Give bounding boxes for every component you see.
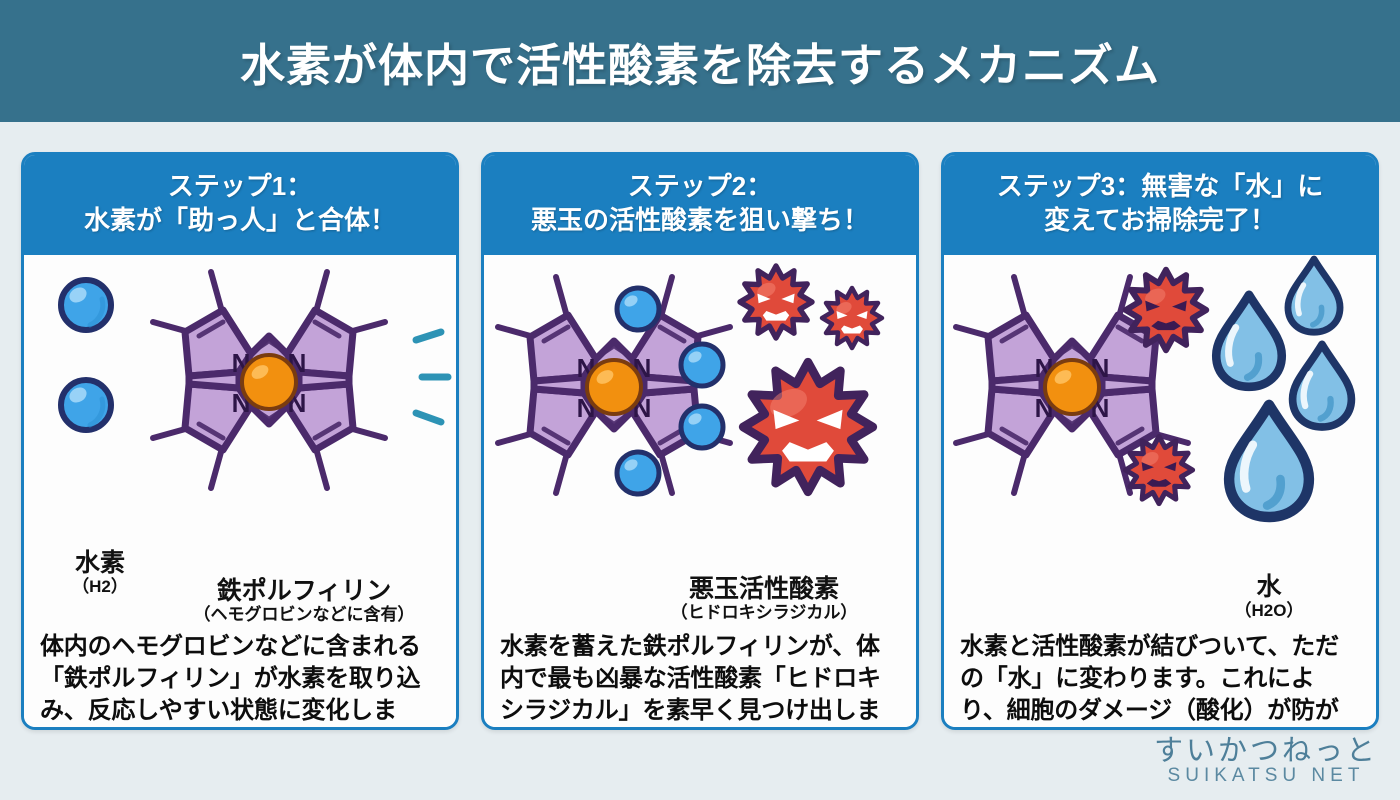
step-1-svg: N N N N — [24, 255, 456, 555]
logo-english-text: SUIKATSU NET — [1154, 766, 1378, 786]
page-title: 水素が体内で活性酸素を除去するメカニズム — [240, 29, 1160, 94]
reactive-oxygen-species-icon-3 — [743, 362, 873, 492]
step-3-captions: 水 （H2O） — [944, 555, 1376, 625]
hydrogen-molecule-icon-3 — [681, 406, 723, 448]
step-card-3-body: N N N N — [944, 255, 1376, 730]
caption-porphyrin: 鉄ポルフィリン （ヘモグロビンなどに含有） — [154, 577, 454, 624]
reactive-oxygen-species-icon-2 — [822, 288, 882, 348]
hydrogen-molecule-icon-2 — [681, 344, 723, 386]
step-card-1-header-line-2: 水素が「助っ人」と合体！ — [34, 204, 446, 238]
iron-center-icon — [242, 355, 296, 409]
hydrogen-molecule-icon-2 — [61, 380, 111, 430]
step-2-description: 水素を蓄えた鉄ポルフィリンが、体内で最も凶暴な活性酸素「ヒドロキシラジカル」を素… — [484, 625, 916, 730]
water-droplet-icon-4 — [1229, 405, 1309, 517]
iron-porphyrin-icon: N N N N — [153, 272, 385, 488]
infographic-page: 水素が体内で活性酸素を除去するメカニズム ステップ1： 水素が「助っ人」と合体！ — [0, 0, 1400, 800]
step-2-illustration: N N N N — [484, 255, 916, 555]
step-card-2[interactable]: ステップ2： 悪玉の活性酸素を狙い撃ち！ — [481, 152, 919, 730]
site-logo[interactable]: すいかつねっと SUIKATSU NET — [1154, 736, 1378, 786]
logo-japanese-text: すいかつねっと — [1154, 736, 1378, 766]
step-1-captions: 水素 （H2） 鉄ポルフィリン （ヘモグロビンなどに含有） — [24, 555, 456, 625]
reactive-oxygen-species-icon-1 — [740, 266, 812, 338]
step-card-1-body: N N N N — [24, 255, 456, 730]
caption-reactive-oxygen: 悪玉活性酸素 （ヒドロキシラジカル） — [624, 575, 904, 622]
step-card-3-header: ステップ3：無害な「水」に 変えてお掃除完了！ — [944, 155, 1376, 255]
caption-water: 水 （H2O） — [1204, 573, 1334, 620]
hydrogen-molecule-icon-4 — [617, 452, 659, 494]
step-card-3[interactable]: ステップ3：無害な「水」に 変えてお掃除完了！ — [941, 152, 1379, 730]
step-card-1-header-line-1: ステップ1： — [34, 170, 446, 204]
step-card-2-body: N N N N — [484, 255, 916, 730]
water-droplet-icon-3 — [1293, 344, 1352, 427]
header-bar: 水素が体内で活性酸素を除去するメカニズム — [0, 0, 1400, 122]
iron-porphyrin-with-hydrogen-icon: N N N N — [498, 277, 730, 494]
step-card-2-header: ステップ2： 悪玉の活性酸素を狙い撃ち！ — [484, 155, 916, 255]
step-1-illustration: N N N N — [24, 255, 456, 555]
step-1-description: 体内のヘモグロビンなどに含まれる「鉄ポルフィリン」が水素を取り込み、反応しやすい… — [24, 625, 456, 730]
step-card-2-header-line-1: ステップ2： — [494, 170, 906, 204]
step-card-3-header-line-1: ステップ3：無害な「水」に — [954, 170, 1366, 204]
step-card-3-header-line-2: 変えてお掃除完了！ — [954, 204, 1366, 238]
iron-center-icon — [587, 360, 641, 414]
step-cards-row: ステップ1： 水素が「助っ人」と合体！ — [0, 152, 1400, 732]
step-3-description: 水素と活性酸素が結びついて、ただの「水」に変わります。これにより、細胞のダメージ… — [944, 625, 1376, 730]
step-3-illustration: N N N N — [944, 255, 1376, 555]
step-2-svg: N N N N — [484, 255, 916, 555]
step-card-2-header-line-2: 悪玉の活性酸素を狙い撃ち！ — [494, 204, 906, 238]
sparkle-icon — [416, 332, 448, 422]
step-3-svg: N N N N — [944, 255, 1376, 555]
step-2-captions: 悪玉活性酸素 （ヒドロキシラジカル） — [484, 555, 916, 625]
step-card-1-header: ステップ1： 水素が「助っ人」と合体！ — [24, 155, 456, 255]
water-droplet-icon-1 — [1288, 259, 1340, 332]
step-card-1[interactable]: ステップ1： 水素が「助っ人」と合体！ — [21, 152, 459, 730]
hydrogen-molecule-icon — [61, 280, 111, 330]
hydrogen-molecule-icon — [617, 288, 659, 330]
caption-hydrogen: 水素 （H2） — [40, 549, 160, 596]
iron-center-icon — [1045, 360, 1099, 414]
water-droplet-icon-2 — [1216, 295, 1282, 387]
